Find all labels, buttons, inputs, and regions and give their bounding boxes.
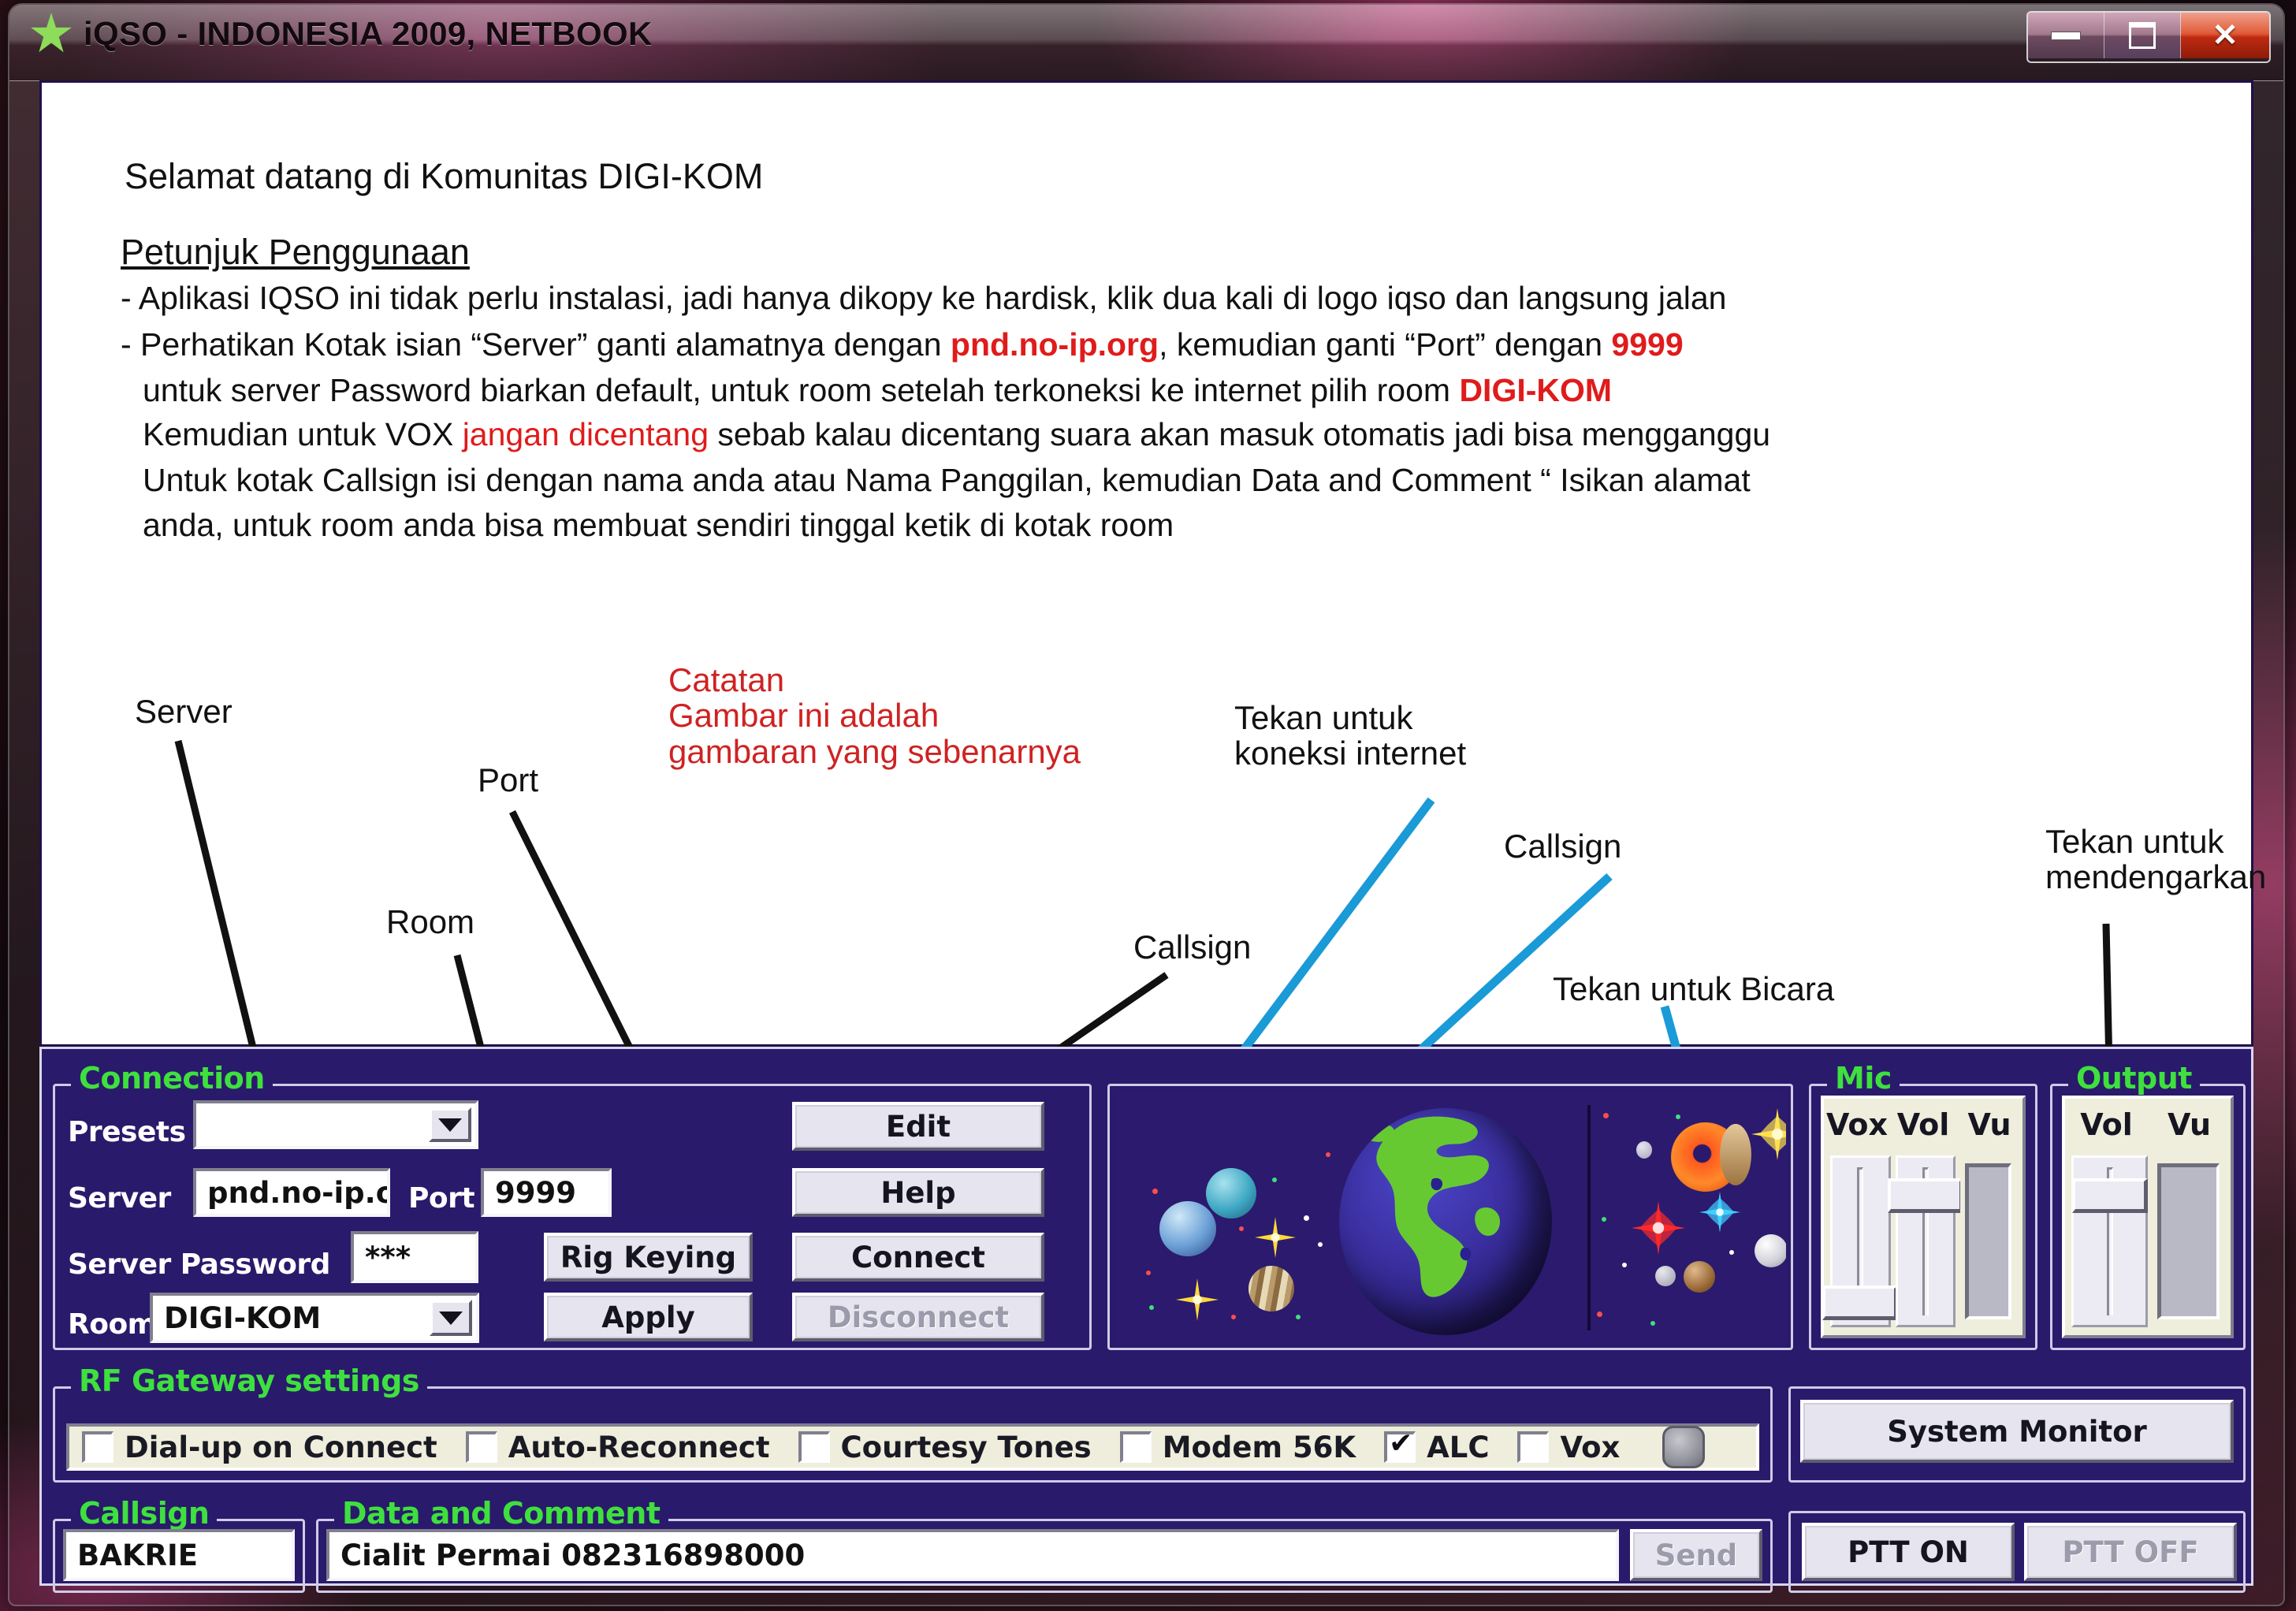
koneksi-line-1: Tekan untuk <box>1234 700 1466 735</box>
mic-vox-slider[interactable] <box>1830 1155 1891 1327</box>
port-input[interactable]: 9999 <box>481 1168 612 1217</box>
apply-button[interactable]: Apply <box>544 1293 753 1341</box>
port-label: Port <box>408 1182 474 1215</box>
planet-white-icon <box>1755 1234 1786 1267</box>
mic-vol-slider[interactable] <box>1896 1155 1956 1327</box>
rig-keying-button[interactable]: Rig Keying <box>544 1233 753 1282</box>
dengar-line-1: Tekan untuk <box>2045 824 2266 859</box>
window-client-area: Selamat datang di Komunitas DIGI-KOM Pet… <box>39 80 2253 1586</box>
annotation-room: Room <box>386 904 474 939</box>
checkbox-dialup-on-connect[interactable]: Dial-up on Connect <box>82 1431 437 1464</box>
output-vol-thumb[interactable] <box>2072 1178 2148 1213</box>
data-comment-input[interactable]: Cialit Permai 082316898000 <box>326 1529 1619 1581</box>
line4-part-b: sebab kalau dicentang suara akan masuk o… <box>709 416 1770 452</box>
instructions-heading: Petunjuk Penggunaan <box>121 234 470 270</box>
mic-vol-label: Vol <box>1890 1107 1956 1142</box>
output-group: Output Vol Vu <box>2050 1084 2246 1350</box>
star-dot <box>1239 1226 1244 1231</box>
titlebar-content: iQSO - INDONESIA 2009, NETBOOK <box>30 13 653 55</box>
output-slider-body <box>2065 1151 2231 1335</box>
starburst-yellow-mid-icon <box>1255 1217 1296 1258</box>
line4-part-a: Kemudian untuk VOX <box>143 416 463 452</box>
output-vu-bar <box>2157 1163 2220 1319</box>
rf-gateway-group-caption: RF Gateway settings <box>71 1364 427 1398</box>
catatan-line-1: Catatan <box>668 662 1081 698</box>
catatan-line-3: gambaran yang sebenarnya <box>668 734 1081 769</box>
star-dot <box>1318 1242 1323 1247</box>
checkbox-box[interactable] <box>798 1431 830 1463</box>
room-combo[interactable]: DIGI-KOM <box>150 1293 479 1343</box>
server-password-value: *** <box>365 1241 411 1274</box>
annotation-callsign-left: Callsign <box>1133 929 1251 965</box>
close-button[interactable]: ✕ <box>2181 13 2269 58</box>
star-dot <box>1650 1321 1655 1326</box>
data-comment-group: Data and Comment Cialit Permai 082316898… <box>316 1519 1773 1593</box>
checkbox-label: Dial-up on Connect <box>125 1431 437 1464</box>
mic-vu-label: Vu <box>1956 1107 2022 1142</box>
green-star-icon <box>30 13 73 55</box>
space-image-frame <box>1107 1084 1793 1350</box>
annotation-mendengarkan: Tekan untuk mendengarkan <box>2045 824 2266 895</box>
port-highlight: 9999 <box>1611 326 1683 363</box>
connection-group: Connection Presets Server pnd.no-ip.org … <box>53 1084 1092 1350</box>
port-value: 9999 <box>495 1176 576 1210</box>
server-address-highlight: pnd.no-ip.org <box>951 326 1159 363</box>
star-dot <box>1729 1250 1734 1255</box>
system-monitor-button[interactable]: System Monitor <box>1800 1400 2234 1463</box>
star-dot <box>1152 1189 1158 1194</box>
mic-group: Mic Vox Vol Vu <box>1809 1084 2037 1350</box>
mic-slider-body <box>1824 1151 2022 1335</box>
mic-vu-meter <box>1960 1155 2016 1327</box>
checkbox-box[interactable] <box>1120 1431 1152 1463</box>
maximize-button[interactable] <box>2104 13 2181 58</box>
presets-chevron-down-icon[interactable] <box>429 1107 471 1142</box>
star-dot <box>1326 1152 1330 1157</box>
planet-tan-icon <box>1720 1124 1751 1185</box>
ptt-off-button: PTT OFF <box>2024 1523 2237 1581</box>
maximize-icon <box>2129 22 2156 49</box>
ptt-on-button[interactable]: PTT ON <box>1802 1523 2015 1581</box>
instruction-line-2: - Perhatikan Kotak isian “Server” ganti … <box>121 329 1684 361</box>
edit-button[interactable]: Edit <box>792 1102 1044 1151</box>
callsign-group: Callsign BAKRIE <box>53 1519 305 1593</box>
annotation-bicara: Tekan untuk Bicara <box>1553 971 1834 1006</box>
checkbox-label: ALC <box>1427 1431 1489 1464</box>
star-dot <box>1304 1215 1309 1221</box>
presets-label: Presets <box>68 1116 186 1148</box>
line2-part-b: , kemudian ganti “Port” dengan <box>1159 326 1611 363</box>
room-chevron-down-icon[interactable] <box>430 1300 472 1336</box>
callsign-group-caption: Callsign <box>71 1496 217 1531</box>
checkbox-label: Vox <box>1560 1431 1620 1464</box>
annotation-port: Port <box>478 762 538 798</box>
starburst-yellow-low-icon <box>1176 1278 1219 1321</box>
rf-gateway-checkbox-strip: Dial-up on Connect Auto-Reconnect Courte… <box>66 1423 1759 1471</box>
starburst-yellow-top-icon <box>1751 1108 1786 1160</box>
line3-part-a: untuk server Password biarkan default, u… <box>143 372 1459 408</box>
presets-combo[interactable] <box>193 1100 478 1149</box>
star-dot <box>1231 1315 1236 1319</box>
data-comment-group-caption: Data and Comment <box>334 1496 668 1531</box>
connection-group-caption: Connection <box>71 1061 273 1096</box>
room-label: Room <box>68 1308 157 1341</box>
welcome-text: Selamat datang di Komunitas DIGI-KOM <box>125 158 763 194</box>
application-window: iQSO - INDONESIA 2009, NETBOOK ✕ Selamat… <box>9 5 2283 1605</box>
server-input[interactable]: pnd.no-ip.org <box>193 1168 390 1217</box>
checkbox-label: Courtesy Tones <box>841 1431 1092 1464</box>
annotation-callsign-right: Callsign <box>1504 828 1621 864</box>
star-dot <box>1622 1263 1627 1267</box>
output-vol-label: Vol <box>2065 1107 2148 1142</box>
room-highlight: DIGI-KOM <box>1459 372 1612 408</box>
star-dot <box>1603 1113 1609 1118</box>
space-globe-image <box>1115 1091 1786 1343</box>
checkbox-alc[interactable]: ALC <box>1384 1431 1489 1464</box>
server-value: pnd.no-ip.org <box>207 1176 390 1210</box>
iqso-app-panel: Connection Presets Server pnd.no-ip.org … <box>39 1047 2253 1586</box>
instruction-line-1: - Aplikasi IQSO ini tidak perlu instalas… <box>121 282 1726 314</box>
instruction-line-3: untuk server Password biarkan default, u… <box>143 374 1612 407</box>
send-button: Send <box>1630 1529 1762 1581</box>
room-value: DIGI-KOM <box>164 1301 321 1335</box>
star-dot <box>1597 1311 1602 1317</box>
checkbox-vox[interactable]: Vox <box>1517 1431 1620 1464</box>
window-title: iQSO - INDONESIA 2009, NETBOOK <box>84 15 653 53</box>
mic-vu-bar <box>1965 1163 2011 1319</box>
output-vu-label: Vu <box>2148 1107 2231 1142</box>
checkbox-modem-56k[interactable]: Modem 56K <box>1120 1431 1356 1464</box>
desktop-background: iQSO - INDONESIA 2009, NETBOOK ✕ Selamat… <box>0 0 2296 1611</box>
checkbox-box[interactable] <box>1384 1431 1416 1463</box>
mic-vox-thumb[interactable] <box>1822 1285 1898 1320</box>
close-icon: ✕ <box>2212 20 2238 51</box>
connect-button[interactable]: Connect <box>792 1233 1044 1282</box>
planet-blue-icon <box>1159 1201 1216 1256</box>
server-password-label: Server Password <box>68 1248 330 1281</box>
dengar-line-2: mendengarkan <box>2045 859 2266 895</box>
ptt-group: PTT ON PTT OFF <box>1788 1511 2246 1593</box>
mic-group-caption: Mic <box>1827 1061 1900 1096</box>
disconnect-button: Disconnect <box>792 1293 1044 1341</box>
checkbox-box[interactable] <box>82 1431 113 1463</box>
system-monitor-frame: System Monitor <box>1788 1386 2246 1483</box>
output-column-headers: Vol Vu <box>2065 1099 2231 1151</box>
instruction-line-4: Kemudian untuk VOX jangan dicentang seba… <box>143 419 1770 451</box>
callsign-input[interactable]: BAKRIE <box>63 1529 295 1581</box>
window-titlebar[interactable]: iQSO - INDONESIA 2009, NETBOOK ✕ <box>9 5 2283 81</box>
star-dot <box>1146 1271 1151 1275</box>
mic-column-headers: Vox Vol Vu <box>1824 1099 2022 1151</box>
instructions-document: Selamat datang di Komunitas DIGI-KOM Pet… <box>39 80 2253 1047</box>
callsign-value: BAKRIE <box>77 1538 198 1572</box>
server-label: Server <box>68 1182 171 1215</box>
planet-teal-icon <box>1206 1168 1256 1218</box>
rf-gateway-group: RF Gateway settings Dial-up on Connect A… <box>53 1386 1773 1483</box>
earth-landmass-icon <box>1339 1108 1552 1335</box>
minimize-icon <box>2051 32 2081 40</box>
output-vol-slider[interactable] <box>2071 1155 2148 1327</box>
checkbox-box[interactable] <box>1517 1431 1549 1463</box>
checkbox-label: Auto-Reconnect <box>508 1431 770 1464</box>
koneksi-line-2: koneksi internet <box>1234 735 1466 771</box>
starburst-red-icon <box>1632 1201 1685 1255</box>
output-group-caption: Output <box>2068 1061 2200 1096</box>
checkbox-box[interactable] <box>466 1431 497 1463</box>
planet-small-pale-icon <box>1636 1141 1652 1159</box>
annotation-server: Server <box>135 694 233 729</box>
star-dot <box>1272 1178 1277 1182</box>
data-comment-value: Cialit Permai 082316898000 <box>340 1538 805 1572</box>
annotation-koneksi-internet: Tekan untuk koneksi internet <box>1234 700 1466 772</box>
star-dot <box>1296 1315 1301 1319</box>
instruction-line-5: Untuk kotak Callsign isi dengan nama and… <box>143 464 1751 497</box>
mic-vox-label: Vox <box>1824 1107 1890 1142</box>
starburst-cyan-icon <box>1699 1192 1740 1233</box>
checkbox-label: Modem 56K <box>1163 1431 1356 1464</box>
checkbox-courtesy-tones[interactable]: Courtesy Tones <box>798 1431 1092 1464</box>
star-dot <box>1602 1217 1606 1222</box>
status-led-icon <box>1662 1426 1705 1468</box>
planet-jupiter-icon <box>1248 1266 1294 1311</box>
star-dot <box>1149 1305 1154 1310</box>
annotation-catatan: Catatan Gambar ini adalah gambaran yang … <box>668 662 1081 769</box>
line2-part-a: - Perhatikan Kotak isian “Server” ganti … <box>121 326 951 363</box>
minimize-button[interactable] <box>2028 13 2104 58</box>
output-slider-panel: Vol Vu <box>2062 1096 2234 1338</box>
output-vu-meter <box>2153 1155 2224 1327</box>
mic-vol-thumb[interactable] <box>1888 1178 1963 1213</box>
space-divider-line <box>1587 1105 1591 1330</box>
catatan-line-2: Gambar ini adalah <box>668 698 1081 733</box>
window-controls: ✕ <box>2026 11 2271 63</box>
help-button[interactable]: Help <box>792 1168 1044 1217</box>
mic-slider-panel: Vox Vol Vu <box>1821 1096 2026 1338</box>
checkbox-auto-reconnect[interactable]: Auto-Reconnect <box>466 1431 770 1464</box>
vox-warning-highlight: jangan dicentang <box>463 416 709 452</box>
star-dot <box>1676 1114 1680 1119</box>
planet-small-brown-icon <box>1684 1261 1715 1293</box>
instruction-line-6: anda, untuk room anda bisa membuat sendi… <box>143 509 1174 541</box>
server-password-input[interactable]: *** <box>351 1231 478 1283</box>
planet-small-grey-icon <box>1655 1266 1676 1286</box>
